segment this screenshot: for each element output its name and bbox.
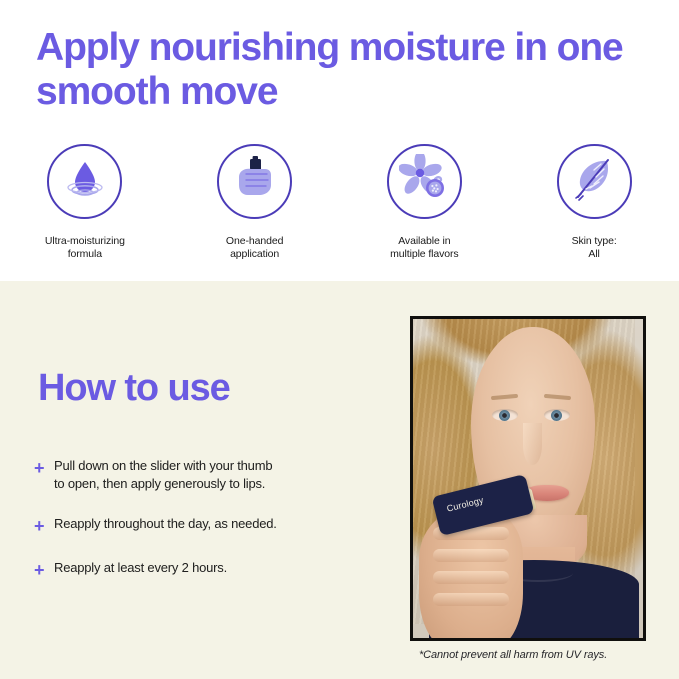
advertisement-page: Apply nourishing moisture in one smooth … bbox=[0, 0, 679, 679]
plus-icon: + bbox=[30, 457, 54, 494]
eye-left bbox=[492, 409, 518, 421]
feather-icon bbox=[570, 155, 618, 208]
plus-icon: + bbox=[30, 515, 54, 538]
hand-holding-product-icon bbox=[231, 155, 279, 208]
feature-icon-circle bbox=[47, 144, 122, 219]
page-title: Apply nourishing moisture in one smooth … bbox=[36, 26, 636, 114]
list-item: + Reapply throughout the day, as needed. bbox=[30, 515, 375, 538]
feature-icon-circle bbox=[217, 144, 292, 219]
list-item-text: Reapply throughout the day, as needed. bbox=[54, 515, 277, 538]
brand-logo: Curology bbox=[446, 495, 485, 514]
feature-label: Skin type: All bbox=[572, 235, 617, 262]
feature-item-ultra-moisturizing: Ultra-moisturizing formula bbox=[0, 144, 170, 262]
eye-right bbox=[544, 409, 570, 421]
list-item: + Reapply at least every 2 hours. bbox=[30, 559, 375, 582]
flower-berry-icon bbox=[399, 154, 449, 209]
feature-label: One-handed application bbox=[226, 235, 283, 262]
feature-item-multiple-flavors: Available in multiple flavors bbox=[340, 144, 510, 262]
feature-list: Ultra-moisturizing formula One-handed ap… bbox=[0, 144, 679, 262]
section-title-how-to-use: How to use bbox=[38, 367, 230, 410]
feature-item-skin-type: Skin type: All bbox=[509, 144, 679, 262]
nose bbox=[523, 423, 542, 465]
feature-icon-circle bbox=[387, 144, 462, 219]
instruction-list: + Pull down on the slider with your thum… bbox=[30, 457, 375, 583]
feature-item-one-handed-application: One-handed application bbox=[170, 144, 340, 262]
feature-icon-circle bbox=[557, 144, 632, 219]
product-photo: Curology bbox=[410, 316, 646, 641]
photo-footnote: *Cannot prevent all harm from UV rays. bbox=[419, 649, 607, 661]
feature-label: Ultra-moisturizing formula bbox=[45, 235, 125, 262]
list-item-text: Pull down on the slider with your thumb … bbox=[54, 457, 272, 494]
plus-icon: + bbox=[30, 559, 54, 582]
top-panel: Apply nourishing moisture in one smooth … bbox=[0, 0, 679, 281]
water-droplet-icon bbox=[62, 156, 108, 207]
feature-label: Available in multiple flavors bbox=[390, 235, 458, 262]
photo-content: Curology bbox=[413, 319, 643, 638]
list-item-text: Reapply at least every 2 hours. bbox=[54, 559, 227, 582]
list-item: + Pull down on the slider with your thum… bbox=[30, 457, 375, 494]
